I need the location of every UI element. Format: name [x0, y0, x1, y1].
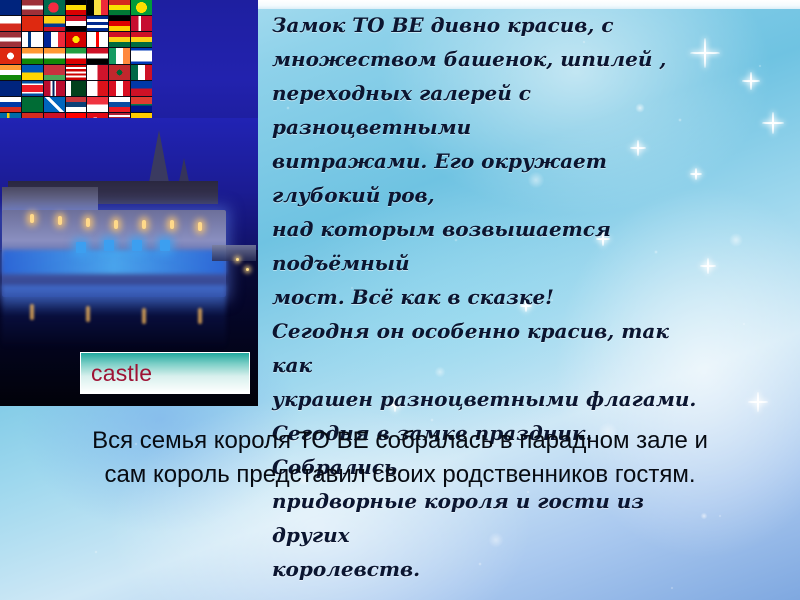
flag-china-icon — [22, 16, 43, 31]
reflection-lamp-icon — [86, 306, 90, 322]
flag-cuba-icon — [87, 16, 108, 31]
distant-light-icon — [246, 268, 249, 271]
flag-ukraine-icon — [22, 65, 43, 80]
paragraph-line: Сегодня он особенно красив, так как — [272, 314, 708, 382]
flag-macedonia-icon — [66, 32, 87, 47]
flag-pakistan-icon — [66, 81, 87, 96]
flag-saudiarabia-icon — [22, 97, 43, 112]
castle-lamp-icon — [86, 218, 90, 227]
flag-malaysia-icon — [66, 65, 87, 80]
distant-light-icon — [236, 258, 239, 261]
flag-australia-icon — [0, 0, 21, 15]
castle-lamp-icon — [30, 214, 34, 223]
flag-belarus-icon — [44, 65, 65, 80]
paragraph-line: Вся семья короля ТО ВЕ собралась в парад… — [0, 424, 800, 458]
paragraph-line: переходных галерей с разноцветными — [272, 76, 708, 144]
reflection-lamp-icon — [30, 304, 34, 320]
flag-philippines-icon — [131, 81, 152, 96]
flag-egypt-icon — [66, 16, 87, 31]
slide-canvas: castle Замок ТО ВЕ дивно красив, смножес… — [0, 0, 800, 600]
castle-window-icon — [76, 242, 86, 253]
flag-hongkong-icon — [0, 48, 21, 63]
flag-norway-icon — [44, 81, 65, 96]
castle-lamp-icon — [142, 220, 146, 229]
castle-caption-label: castle — [81, 360, 152, 387]
flag-germany-icon — [109, 16, 130, 31]
flag-iran-icon — [66, 48, 87, 63]
castle-window-icon — [160, 240, 170, 251]
flag-france-icon — [44, 32, 65, 47]
castle-window-icon — [132, 240, 142, 251]
flag-iraq-icon — [87, 48, 108, 63]
flag-northkorea-icon — [22, 81, 43, 96]
flag-bolivia-icon — [109, 0, 130, 15]
flag-mexico-icon — [131, 65, 152, 80]
flag-bangladesh-icon — [44, 0, 65, 15]
flag-israel-icon — [131, 48, 152, 63]
castle-caption-box[interactable]: castle — [80, 352, 250, 394]
castle-window-icon — [104, 240, 114, 251]
paragraph-line: придворные короля и гости из других — [272, 484, 708, 552]
flag-russia-icon — [0, 97, 21, 112]
flag-singapore-icon — [87, 97, 108, 112]
castle-far-building — [212, 245, 256, 261]
castle-lamp-icon — [114, 220, 118, 229]
flag-malta-icon — [87, 65, 108, 80]
flag-india3-icon — [0, 65, 21, 80]
left-media-panel: castle — [0, 0, 258, 406]
flag-scotland-icon — [44, 97, 65, 112]
bottom-paragraph: Вся семья короля ТО ВЕ собралась в парад… — [0, 424, 800, 492]
castle-lamp-icon — [170, 220, 174, 229]
flag-ireland-icon — [109, 48, 130, 63]
flag-colombia-icon — [44, 16, 65, 31]
flag-uganda-icon — [66, 0, 87, 15]
paragraph-line: множеством башенок, шпилей , — [272, 42, 708, 76]
flag-georgia-icon — [87, 32, 108, 47]
flag-brazil-icon — [131, 0, 152, 15]
flag-latvia-icon — [22, 0, 43, 15]
flag-ghana2-icon — [109, 32, 130, 47]
main-paragraph: Замок ТО ВЕ дивно красив, смножеством ба… — [272, 8, 708, 586]
flag-india2-icon — [22, 48, 43, 63]
flag-finland-icon — [22, 32, 43, 47]
flag-panama-icon — [87, 81, 108, 96]
flag-belgium-icon — [87, 0, 108, 15]
paragraph-line: королевств. — [272, 552, 708, 586]
flag-ghana-icon — [131, 32, 152, 47]
flag-india-icon — [44, 48, 65, 63]
flag-peru-icon — [109, 81, 130, 96]
flag-denmark-icon — [131, 16, 152, 31]
castle-lamp-icon — [198, 222, 202, 231]
world-flags-grid — [0, 0, 152, 128]
castle-spire-icon — [148, 130, 170, 188]
paragraph-line: сам король представил своих родственнико… — [0, 458, 800, 492]
castle-water-reflection — [2, 285, 226, 348]
reflection-lamp-icon — [198, 308, 202, 324]
flag-morocco-icon — [109, 65, 130, 80]
flag-newzealand-icon — [0, 81, 21, 96]
paragraph-line: украшен разноцветными флагами. — [272, 382, 708, 416]
paragraph-line: над которым возвышается подъёмный — [272, 212, 708, 280]
reflection-lamp-icon — [142, 308, 146, 324]
paragraph-line: мост. Всё как в сказке! — [272, 280, 708, 314]
paragraph-line: витражами. Его окружает глубокий ров, — [272, 144, 708, 212]
paragraph-line: Замок ТО ВЕ дивно красив, с — [272, 8, 708, 42]
castle-lamp-icon — [58, 216, 62, 225]
flag-latvia2-icon — [0, 32, 21, 47]
flag-chile-icon — [0, 16, 21, 31]
flag-slovakia-icon — [109, 97, 130, 112]
flag-southafrica-icon — [131, 97, 152, 112]
flag-serbia-icon — [66, 97, 87, 112]
castle-blue-uplight — [2, 250, 226, 273]
